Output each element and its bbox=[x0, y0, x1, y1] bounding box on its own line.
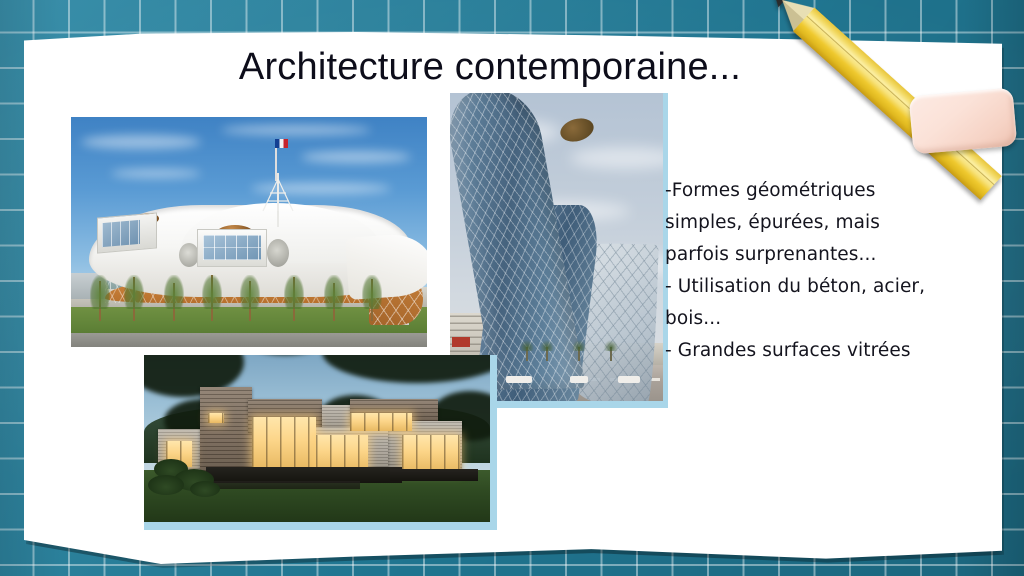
photo-modern-house-dusk bbox=[144, 355, 497, 530]
bullet-line-1: -Formes géométriques bbox=[665, 175, 985, 207]
bullet-line-4: - Utilisation du béton, acier, bbox=[665, 271, 985, 303]
bullet-line-6: - Grandes surfaces vitrées bbox=[665, 335, 985, 367]
roof-spire-icon bbox=[257, 179, 299, 213]
bullet-text-block: -Formes géométriques simples, épurées, m… bbox=[665, 175, 985, 367]
page-title: Architecture contemporaine... bbox=[120, 44, 860, 90]
slide-canvas: Architecture contemporaine... bbox=[0, 0, 1024, 576]
bullet-line-2: simples, épurées, mais bbox=[665, 207, 985, 239]
bullet-line-3: parfois surprenantes... bbox=[665, 239, 985, 271]
eraser-icon bbox=[909, 88, 1018, 155]
bullet-line-5: bois... bbox=[665, 303, 985, 335]
photo-centre-pompidou-metz bbox=[71, 117, 427, 347]
